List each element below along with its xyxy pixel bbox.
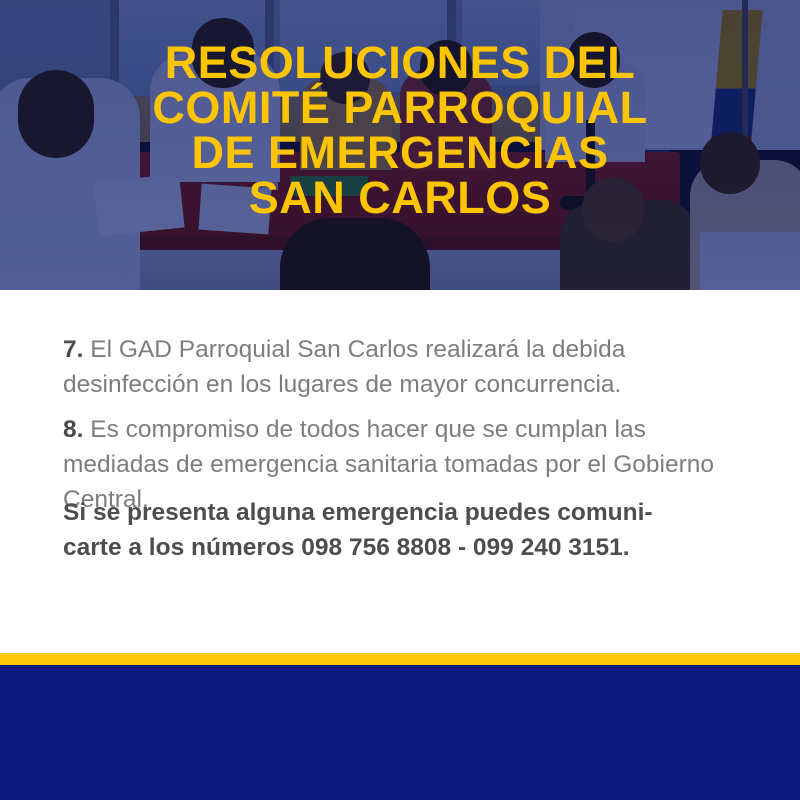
content-area: 7. El GAD Parroquial San Carlos realizar…: [0, 290, 800, 653]
title-line-2: COMITÉ PARROQUIAL: [0, 85, 800, 130]
emergency-contact-note: Si se presenta alguna emergencia puedes …: [63, 495, 739, 565]
resolution-text-7: El GAD Parroquial San Carlos realizará l…: [63, 336, 625, 398]
emergency-note-line-2: carte a los números 098 756 8808 - 099 2…: [63, 530, 739, 565]
footer: SAN CARLOS ★ ★ ★ ★ ★ ★ ★ ★ ★ G.A.D. PARR…: [0, 665, 800, 800]
poster: RESOLUCIONES DEL COMITÉ PARROQUIAL DE EM…: [0, 0, 800, 800]
footer-accent-bar: [0, 653, 800, 665]
hero-banner: RESOLUCIONES DEL COMITÉ PARROQUIAL DE EM…: [0, 0, 800, 290]
page-title: RESOLUCIONES DEL COMITÉ PARROQUIAL DE EM…: [0, 40, 800, 220]
title-line-3: DE EMERGENCIAS: [0, 130, 800, 175]
resolution-item-7: 7. El GAD Parroquial San Carlos realizar…: [63, 332, 739, 402]
emergency-note-line-1: Si se presenta alguna emergencia puedes …: [63, 495, 739, 530]
resolution-number-8: 8.: [63, 416, 83, 443]
title-line-4: SAN CARLOS: [0, 175, 800, 220]
title-line-1: RESOLUCIONES DEL: [0, 40, 800, 85]
resolution-number-7: 7.: [63, 336, 83, 363]
